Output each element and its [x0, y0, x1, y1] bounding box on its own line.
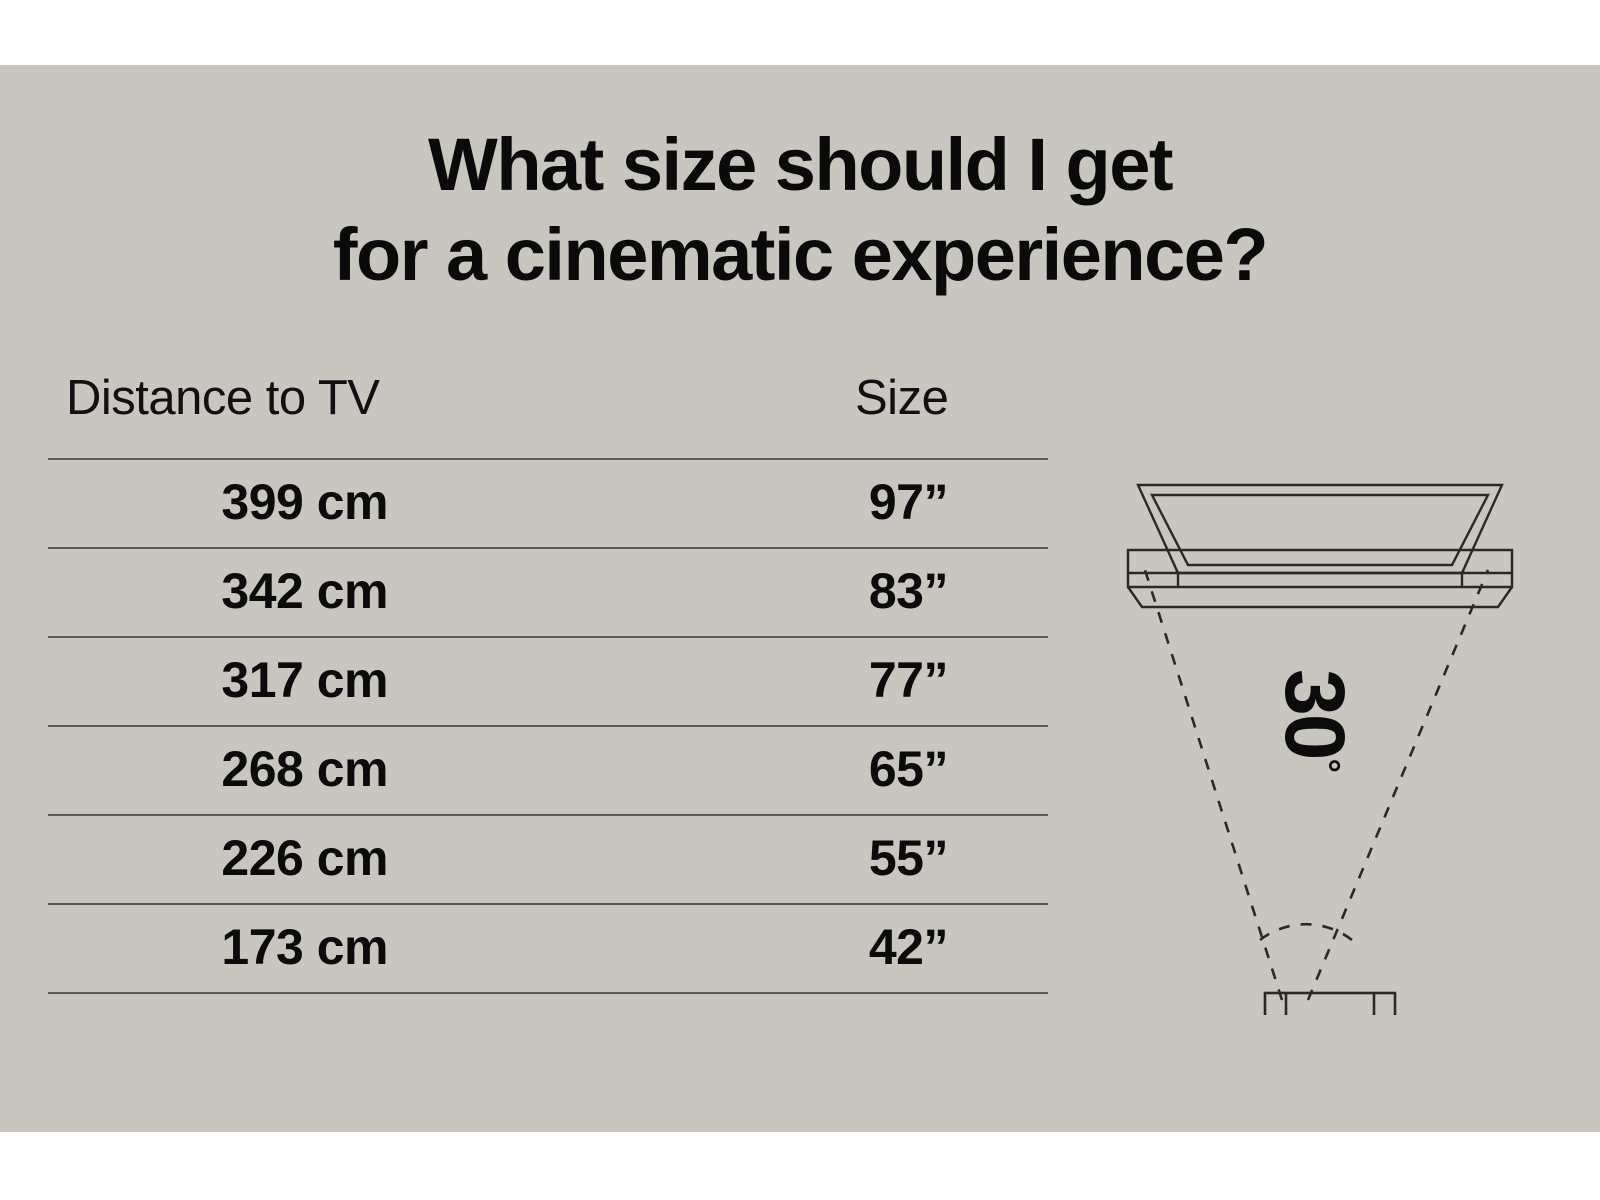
angle-arc	[1260, 924, 1352, 940]
cell-distance: 399 cm	[48, 473, 388, 531]
column-header-size: Size	[855, 370, 948, 426]
size-table: Distance to TV Size 399 cm 97” 342 cm 83…	[48, 370, 1048, 994]
table-row: 226 cm 55”	[48, 814, 1048, 903]
column-header-distance: Distance to TV	[66, 370, 379, 426]
cell-size: 65”	[648, 740, 948, 798]
cell-size: 42”	[648, 918, 948, 976]
sofa-outline	[1265, 993, 1395, 1015]
tv-base-front	[1128, 550, 1512, 587]
table-row: 342 cm 83”	[48, 547, 1048, 636]
cell-size: 83”	[648, 562, 948, 620]
tv-screen-inner	[1152, 495, 1488, 565]
cell-distance: 317 cm	[48, 651, 388, 709]
cell-distance: 226 cm	[48, 829, 388, 887]
table-row: 399 cm 97”	[48, 458, 1048, 547]
table-row: 268 cm 65”	[48, 725, 1048, 814]
infographic-page: What size should I get for a cinematic e…	[0, 0, 1600, 1200]
degree-symbol: °	[1307, 759, 1348, 771]
page-title: What size should I get for a cinematic e…	[0, 120, 1600, 299]
cell-distance: 342 cm	[48, 562, 388, 620]
cell-size: 55”	[648, 829, 948, 887]
angle-label-text: 30°	[1273, 630, 1357, 810]
table-bottom-rule	[48, 992, 1048, 994]
cell-size: 97”	[648, 473, 948, 531]
cell-distance: 268 cm	[48, 740, 388, 798]
cell-size: 77”	[648, 651, 948, 709]
tv-icon	[1128, 485, 1512, 607]
infographic-canvas: What size should I get for a cinematic e…	[0, 65, 1600, 1132]
angle-label: 30°	[1255, 620, 1375, 800]
table-row: 173 cm 42”	[48, 903, 1048, 992]
tv-screen-outer	[1138, 485, 1502, 573]
tv-base-bevel	[1128, 587, 1512, 607]
sofa-icon	[1265, 993, 1395, 1015]
cell-distance: 173 cm	[48, 918, 388, 976]
table-row: 317 cm 77”	[48, 636, 1048, 725]
angle-value: 30	[1268, 669, 1362, 758]
table-header-row: Distance to TV Size	[48, 370, 1048, 458]
